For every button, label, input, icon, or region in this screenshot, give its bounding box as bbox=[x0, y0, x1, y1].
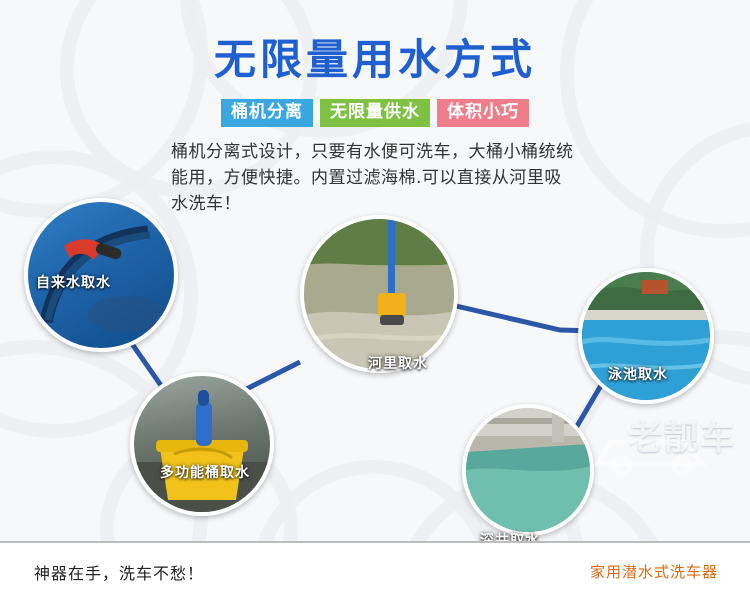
bubble-caption-tap-water: 自来水取水 bbox=[36, 272, 111, 292]
footer-slogan: 神器在手，洗车不愁！ bbox=[34, 560, 204, 584]
feature-tag-list: 桶机分离 无限量供水 体积小巧 bbox=[0, 99, 750, 127]
page-title: 无限量用水方式 bbox=[0, 0, 750, 87]
watermark-car-icon bbox=[580, 420, 730, 480]
bubble-river[interactable] bbox=[300, 215, 458, 373]
promo-page: 无限量用水方式 桶机分离 无限量供水 体积小巧 桶机分离式设计，只要有水便可洗车… bbox=[0, 0, 750, 599]
photo-multi-bucket-detail bbox=[134, 376, 270, 512]
footer-bar: 神器在手，洗车不愁！ 家用潜水式洗车器 bbox=[0, 541, 750, 599]
description-text: 桶机分离式设计，只要有水便可洗车，大桶小桶统统能用，方便快捷。内置过滤海棉.可以… bbox=[171, 139, 579, 218]
feature-tag-3: 体积小巧 bbox=[437, 99, 529, 127]
bubble-deep-well[interactable] bbox=[462, 404, 594, 536]
bubble-caption-pool: 泳池取水 bbox=[608, 364, 668, 384]
bubble-caption-river: 河里取水 bbox=[368, 353, 428, 373]
photo-deep-well-detail bbox=[466, 408, 590, 532]
footer-product-name: 家用潜水式洗车器 bbox=[590, 561, 718, 582]
photo-river-detail bbox=[304, 219, 454, 369]
bubble-multi-bucket[interactable] bbox=[130, 372, 274, 516]
feature-tag-1: 桶机分离 bbox=[221, 99, 313, 127]
bubble-caption-multi-bucket: 多功能桶取水 bbox=[160, 462, 250, 482]
feature-tag-2: 无限量供水 bbox=[320, 99, 430, 127]
header-block: 无限量用水方式 桶机分离 无限量供水 体积小巧 桶机分离式设计，只要有水便可洗车… bbox=[0, 0, 750, 218]
